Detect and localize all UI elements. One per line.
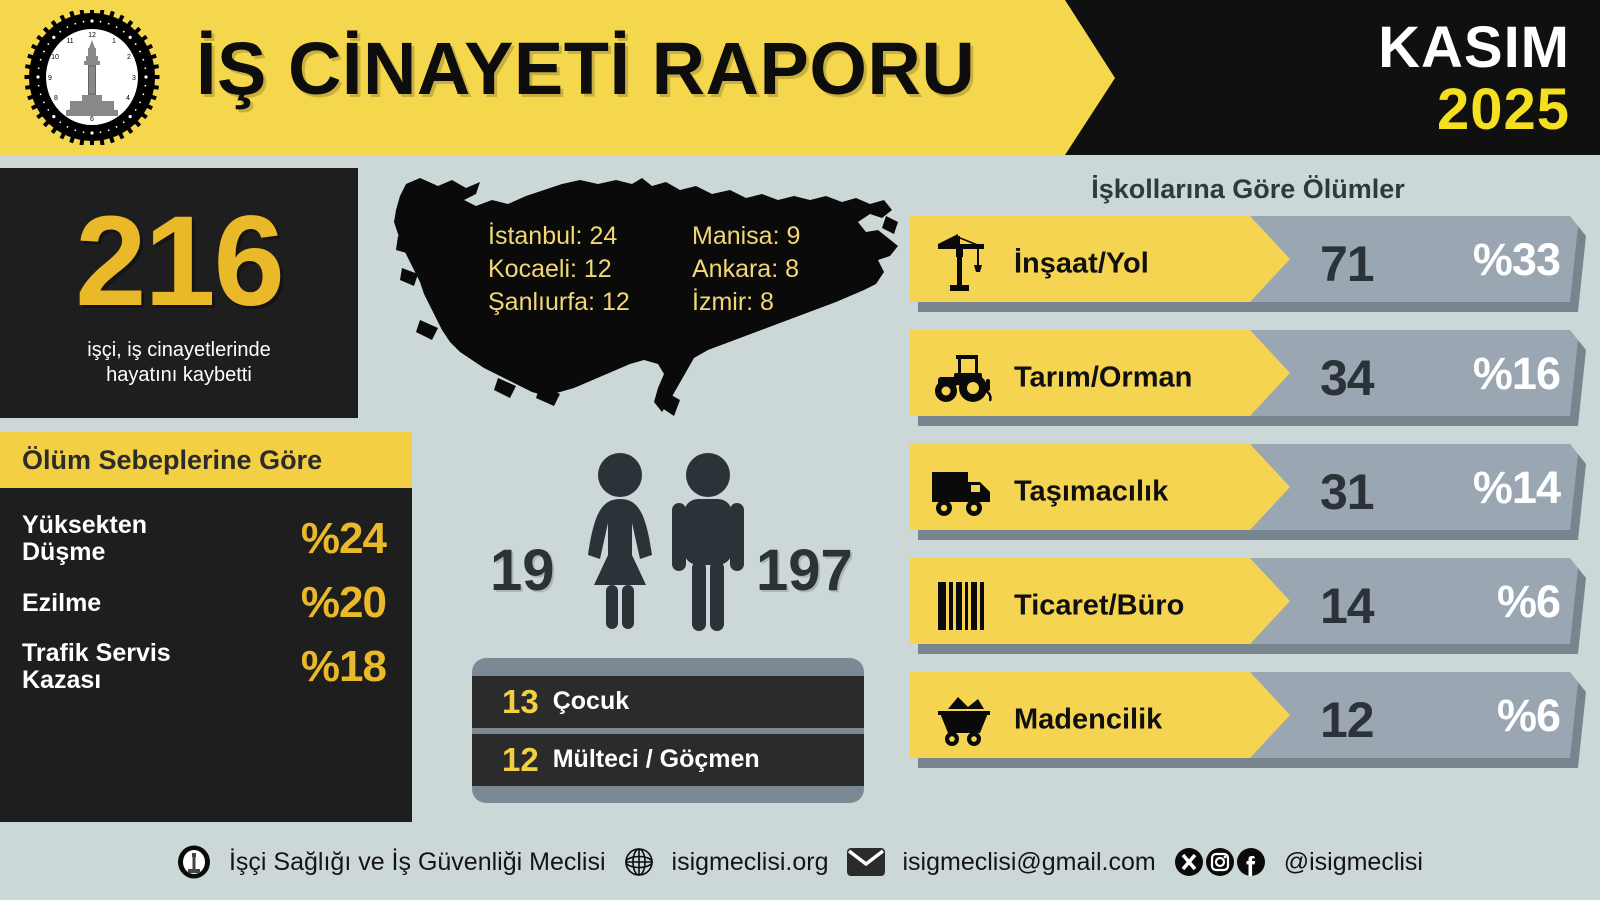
- sector-percentage: %6: [1497, 690, 1560, 742]
- svg-text:10: 10: [51, 54, 59, 61]
- female-figure-icon: [578, 451, 662, 638]
- vulnerable-groups-box: 13 Çocuk 12 Mülteci / Göçmen: [472, 658, 864, 803]
- cause-label: Trafik Servis Kazası: [22, 640, 222, 694]
- mine-cart-icon: [928, 686, 1000, 754]
- city-death-list: İstanbul: 24 Manisa: 9 Kocaeli: 12 Ankar…: [488, 222, 800, 317]
- sector-count: 34: [1320, 349, 1374, 407]
- cause-label: Ezilme: [22, 590, 101, 617]
- city-item: Şanlıurfa: 12: [488, 288, 688, 317]
- city-item: Ankara: 8: [692, 255, 800, 284]
- x-twitter-icon[interactable]: [1174, 847, 1204, 877]
- male-figure-icon: [666, 451, 750, 638]
- sector-label: Taşımacılık: [1014, 476, 1168, 509]
- svg-text:2: 2: [127, 54, 131, 61]
- cause-value: %20: [301, 578, 386, 628]
- cause-row: Yüksekten Düşme %24: [0, 506, 412, 572]
- death-causes-header: Ölüm Sebeplerine Göre: [0, 432, 412, 488]
- city-item: Manisa: 9: [692, 222, 800, 251]
- sector-label: Madencilik: [1014, 704, 1162, 737]
- sector-count: 71: [1320, 235, 1374, 293]
- svg-text:3: 3: [132, 75, 136, 82]
- svg-text:1: 1: [112, 38, 116, 45]
- group-row-children: 13 Çocuk: [472, 676, 864, 728]
- sector-count: 14: [1320, 577, 1374, 635]
- svg-text:11: 11: [66, 38, 73, 45]
- page-title: İŞ CİNAYETİ RAPORU: [196, 26, 975, 111]
- sector-label: İnşaat/Yol: [1014, 248, 1149, 281]
- sector-row-insaat-yol: İnşaat/Yol 71 %33: [910, 216, 1586, 312]
- sector-percentage: %33: [1473, 234, 1560, 286]
- cause-row: Ezilme %20: [0, 572, 412, 634]
- social-icons-group: [1174, 847, 1266, 877]
- svg-text:4: 4: [126, 95, 130, 102]
- cause-row: Trafik Servis Kazası %18: [0, 634, 412, 700]
- group-label: Çocuk: [553, 687, 629, 716]
- cause-value: %18: [301, 642, 386, 692]
- female-death-count: 19: [490, 537, 555, 604]
- sector-count: 12: [1320, 691, 1374, 749]
- clock-tower-logo-icon: 12 1 2 3 4 5 6 7 8 9 10 11: [22, 10, 162, 145]
- group-label: Mülteci / Göçmen: [553, 745, 760, 774]
- svg-text:9: 9: [48, 75, 52, 82]
- truck-icon: [928, 458, 1000, 526]
- city-item: İstanbul: 24: [488, 222, 688, 251]
- male-death-count: 197: [756, 537, 853, 604]
- footer-social-handle[interactable]: @isigmeclisi: [1284, 848, 1423, 877]
- group-count: 13: [502, 683, 539, 721]
- total-deaths-number: 216: [75, 198, 283, 326]
- total-deaths-caption: işçi, iş cinayetlerinde hayatını kaybett…: [87, 338, 270, 388]
- caption-line-2: hayatını kaybetti: [87, 363, 270, 388]
- isig-meclisi-logo: 12 1 2 3 4 5 6 7 8 9 10 11: [22, 10, 162, 145]
- sector-percentage: %16: [1473, 348, 1560, 400]
- sector-track: [910, 672, 1578, 758]
- sector-row-madencilik: Madencilik 12 %6: [910, 672, 1586, 768]
- isig-logo-small-icon: [177, 845, 211, 879]
- total-deaths-panel: 216 işçi, iş cinayetlerinde hayatını kay…: [0, 168, 358, 418]
- death-causes-panel: Ölüm Sebeplerine Göre Yüksekten Düşme %2…: [0, 432, 412, 822]
- sector-row-tasimacilik: Taşımacılık 31 %14: [910, 444, 1586, 540]
- city-item: İzmir: 8: [692, 288, 800, 317]
- svg-text:6: 6: [90, 116, 94, 123]
- year-label: 2025: [1437, 76, 1570, 143]
- gender-breakdown: 19 197: [470, 445, 870, 660]
- cause-label: Yüksekten Düşme: [22, 512, 222, 566]
- sector-label: Tarım/Orman: [1014, 362, 1192, 395]
- sector-row-ticaret-buro: Ticaret/Büro 14 %6: [910, 558, 1586, 654]
- sector-track: [910, 558, 1578, 644]
- month-label: KASIM: [1378, 14, 1570, 81]
- footer-website[interactable]: isigmeclisi.org: [672, 848, 829, 877]
- footer-email[interactable]: isigmeclisi@gmail.com: [903, 848, 1156, 877]
- tractor-icon: [928, 344, 1000, 412]
- header-bar: 12 1 2 3 4 5 6 7 8 9 10 11: [0, 0, 1600, 155]
- sectors-chart: İnşaat/Yol 71 %33 Tarım/Orman: [910, 216, 1586, 786]
- group-count: 12: [502, 741, 539, 779]
- svg-text:8: 8: [54, 95, 58, 102]
- sectors-chart-title: İşkollarına Göre Ölümler: [912, 174, 1584, 205]
- sector-count: 31: [1320, 463, 1374, 521]
- instagram-icon[interactable]: [1205, 847, 1235, 877]
- barcode-icon: [928, 572, 1000, 640]
- sector-label: Ticaret/Büro: [1014, 590, 1184, 623]
- crane-icon: [928, 230, 1000, 298]
- sector-row-tarim-orman: Tarım/Orman 34 %16: [910, 330, 1586, 426]
- death-causes-list: Yüksekten Düşme %24 Ezilme %20 Trafik Se…: [0, 488, 412, 700]
- sector-percentage: %14: [1473, 462, 1560, 514]
- footer-bar: İşçi Sağlığı ve İş Güvenliği Meclisi isi…: [0, 824, 1600, 900]
- sector-percentage: %6: [1497, 576, 1560, 628]
- group-row-refugees: 12 Mülteci / Göçmen: [472, 734, 864, 786]
- facebook-icon[interactable]: [1236, 847, 1266, 877]
- email-icon[interactable]: [847, 848, 885, 876]
- turkey-map-region: İstanbul: 24 Manisa: 9 Kocaeli: 12 Ankar…: [380, 160, 905, 445]
- footer-organization: İşçi Sağlığı ve İş Güvenliği Meclisi: [229, 848, 606, 877]
- cause-value: %24: [301, 514, 386, 564]
- city-item: Kocaeli: 12: [488, 255, 688, 284]
- caption-line-1: işçi, iş cinayetlerinde: [87, 338, 270, 363]
- globe-icon[interactable]: [624, 847, 654, 877]
- svg-text:12: 12: [88, 32, 96, 39]
